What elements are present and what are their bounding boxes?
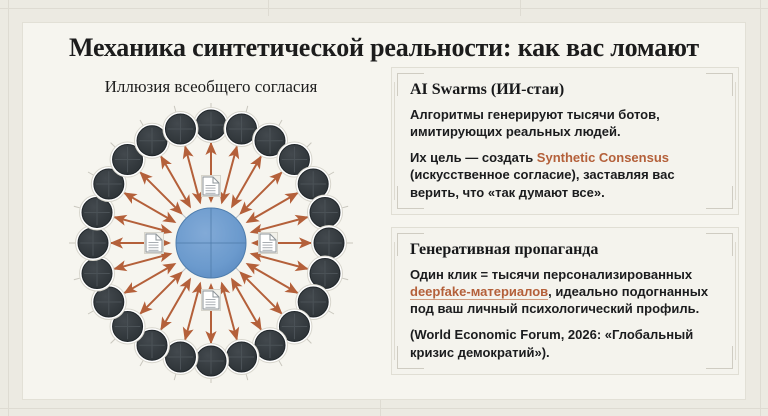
influence-arrow	[140, 172, 181, 213]
panel-paragraph: Их цель — создать Synthetic Consensus (и…	[410, 149, 722, 201]
influence-arrow	[140, 273, 181, 314]
document-icon	[202, 290, 221, 311]
influence-arrow	[252, 254, 308, 269]
influence-arrow	[241, 273, 282, 314]
panel-body: Один клик = тысячи персонализированных d…	[410, 266, 722, 361]
influence-arrow	[222, 146, 237, 202]
panel-heading: Генеративная пропаганда	[410, 241, 722, 259]
page-title: Механика синтетической реальности: как в…	[23, 33, 745, 63]
bot-node-icon	[163, 112, 198, 147]
document-icon	[259, 233, 278, 254]
guide-line-bottom	[0, 408, 768, 409]
bot-node-icon	[312, 226, 347, 261]
accent-term: deepfake-материалов	[410, 284, 548, 300]
consensus-diagram	[46, 103, 376, 383]
body-text: Алгоритмы генерируют тысячи ботов, имити…	[410, 107, 660, 139]
panel-paragraph: (World Economic Forum, 2026: «Глобальный…	[410, 326, 722, 361]
influence-arrow	[124, 264, 174, 293]
bot-node-icon	[80, 256, 115, 291]
body-text: (искусственное согласие), заставляя вас …	[410, 167, 675, 199]
guide-tick-b	[520, 0, 521, 16]
document-icon	[202, 176, 221, 197]
hub-circle	[176, 208, 246, 278]
document-icon	[145, 233, 164, 254]
guide-line-top	[0, 8, 768, 9]
influence-arrow	[161, 156, 190, 206]
panel-paragraph: Один клик = тысячи персонализированных d…	[410, 266, 722, 318]
panel-generative-propaganda: Генеративная пропаганда Один клик = тыся…	[391, 227, 739, 375]
influence-arrow	[222, 284, 237, 340]
influence-arrow	[232, 156, 261, 206]
influence-arrow	[185, 146, 200, 202]
bot-node-icon	[194, 344, 229, 379]
body-text: Один клик = тысячи персонализированных	[410, 267, 692, 282]
influence-arrow	[114, 254, 170, 269]
panel-body: Алгоритмы генерируют тысячи ботов, имити…	[410, 106, 722, 201]
panel-heading: AI Swarms (ИИ-стаи)	[410, 81, 722, 99]
panel-edge-left	[394, 242, 395, 360]
body-text: (World Economic Forum, 2026: «Глобальный…	[410, 327, 693, 359]
diagram-title: Иллюзия всеобщего согласия	[31, 77, 391, 97]
accent-term: Synthetic Consensus	[537, 150, 669, 165]
panel-edge-right	[735, 242, 736, 360]
influence-arrow	[185, 284, 200, 340]
bot-node-icon	[76, 226, 111, 261]
bot-node-icon	[307, 195, 342, 230]
guide-tick-c	[380, 400, 381, 416]
bot-node-icon	[194, 108, 229, 143]
influence-arrow	[241, 172, 282, 213]
guide-tick-a	[268, 0, 269, 16]
influence-arrow	[247, 264, 297, 293]
influence-arrow	[124, 193, 174, 222]
diagram-svg	[46, 103, 376, 383]
panel-ai-swarms: AI Swarms (ИИ-стаи) Алгоритмы генерируют…	[391, 67, 739, 215]
body-text: Их цель — создать	[410, 150, 537, 165]
panel-edge-right	[735, 82, 736, 200]
guide-line-left	[8, 0, 9, 416]
panel-paragraph: Алгоритмы генерируют тысячи ботов, имити…	[410, 106, 722, 141]
influence-arrow	[247, 193, 297, 222]
bot-node-icon	[224, 339, 259, 374]
influence-arrow	[114, 217, 170, 232]
influence-arrow	[252, 217, 308, 232]
panel-edge-left	[394, 82, 395, 200]
guide-line-right	[760, 0, 761, 416]
influence-arrow	[161, 279, 190, 329]
influence-arrow	[232, 279, 261, 329]
slide-card: Механика синтетической реальности: как в…	[22, 22, 746, 400]
info-panels: AI Swarms (ИИ-стаи) Алгоритмы генерируют…	[391, 67, 739, 397]
diagram-column: Иллюзия всеобщего согласия	[31, 75, 391, 391]
